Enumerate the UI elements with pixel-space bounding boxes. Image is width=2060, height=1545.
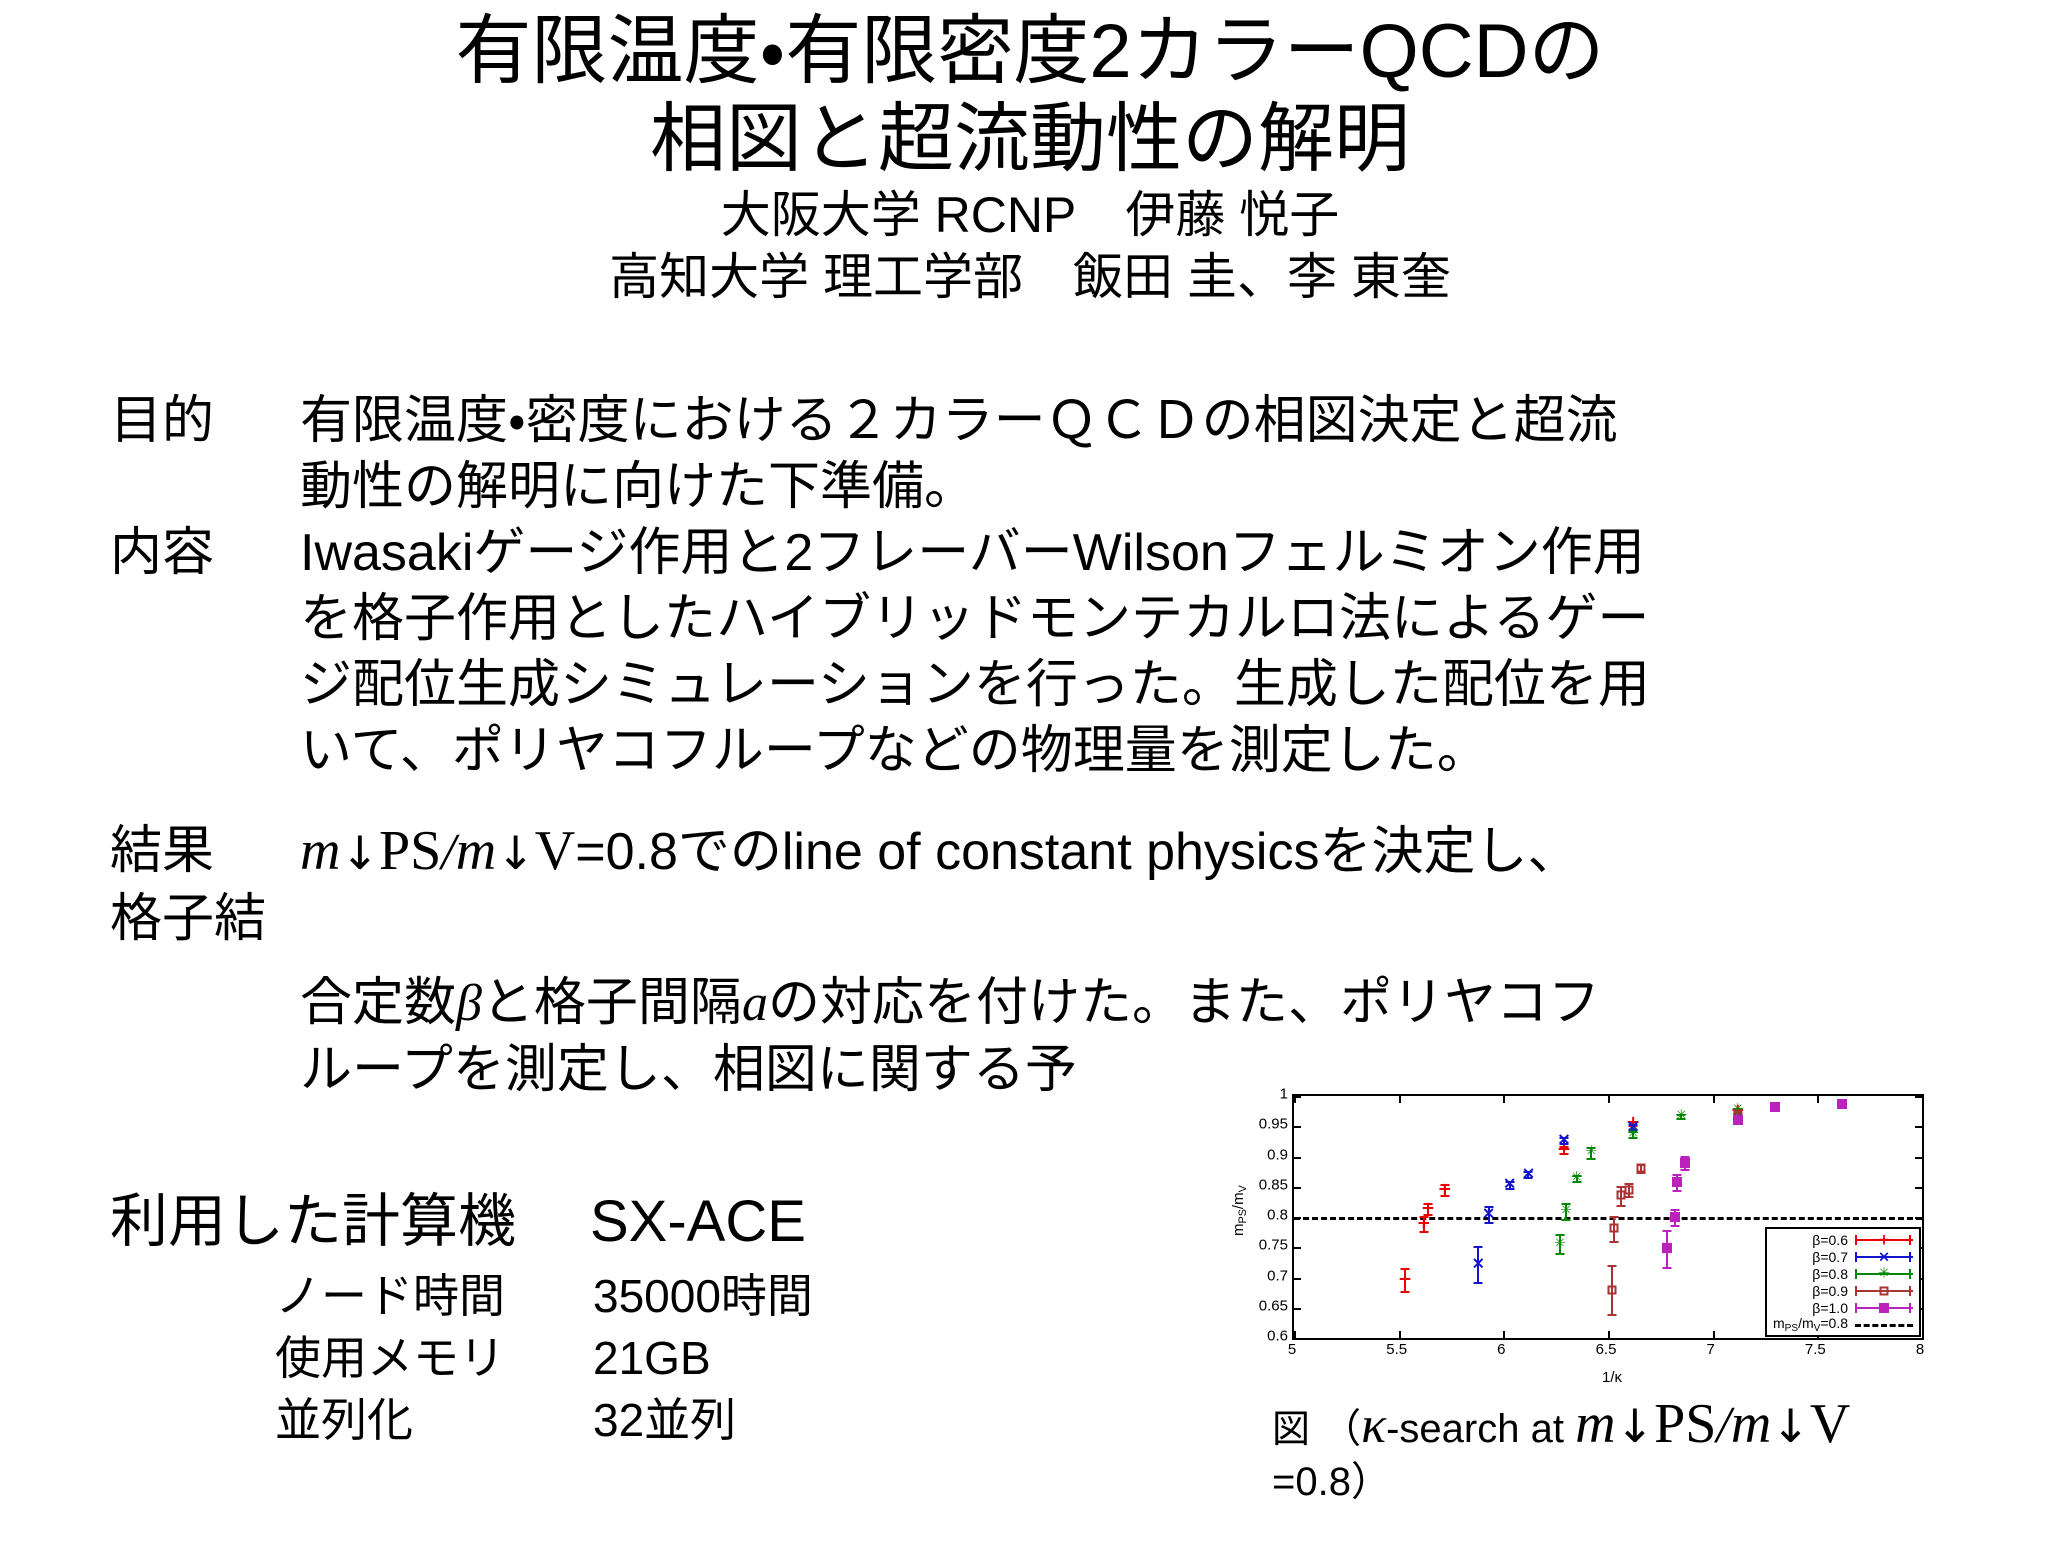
section-results-line-3-a: 合定数 xyxy=(300,974,456,1032)
chart-error-bar-cap xyxy=(1474,1246,1483,1248)
chart-y-tick-label: 0.9 xyxy=(1267,1147,1288,1162)
chart-legend-item: β=0.9 xyxy=(1773,1282,1915,1299)
chart-x-tick-mark xyxy=(1713,1096,1715,1103)
chart-marker-square-filled xyxy=(1670,1212,1680,1222)
chart-marker-star: ✳ xyxy=(1675,1107,1687,1124)
presentation-title-line-1: 有限温度・有限密度2カラーQCDの xyxy=(0,8,2060,96)
chart-x-tick-label: 5 xyxy=(1288,1342,1296,1357)
machine-heading-value: SX-ACE xyxy=(590,1185,806,1259)
chart-y-tick-mark xyxy=(1915,1338,1922,1340)
chart-marker-square-open xyxy=(1637,1163,1646,1172)
chart-y-tick-mark xyxy=(1915,1157,1922,1159)
y-axis-den-sub: V xyxy=(1237,1185,1249,1192)
chart-marker-cross: × xyxy=(1502,1176,1516,1193)
section-contents-line-1: Iwasakiゲージ作用と2フレーバーWilsonフェルミオン作用 xyxy=(300,520,1960,586)
chart-marker-cross: × xyxy=(1521,1166,1535,1183)
chart-legend-item: β=0.8✳ xyxy=(1773,1265,1915,1282)
section-purpose-line-1: 有限温度・密度における２カラーＱＣＤの相図決定と超流 xyxy=(300,388,1960,454)
figure-caption-tail: =0.8） xyxy=(1272,1456,1942,1508)
chart-x-tick-mark xyxy=(1294,1331,1296,1338)
math-down-arrow-1: ↓ xyxy=(340,826,379,880)
figure-caption-m-2: m xyxy=(1731,1393,1771,1455)
machine-row-node-hours-label: ノード時間 xyxy=(275,1265,593,1327)
chart-marker-star: ✳ xyxy=(1627,1126,1639,1143)
chart-x-tick-mark xyxy=(1399,1096,1401,1103)
chart-marker-plus: + xyxy=(1421,1200,1435,1217)
machine-row-memory-value: 21GB xyxy=(593,1327,711,1389)
chart-y-tick-mark xyxy=(1294,1278,1301,1280)
figure-caption-v: V xyxy=(1810,1393,1850,1455)
figure-caption-open-paren: （ xyxy=(1321,1407,1361,1451)
math-lattice-spacing-a: a xyxy=(742,975,768,1032)
chart-x-tick-label: 7.5 xyxy=(1805,1342,1826,1357)
section-results-line-3-b: と格子間隔 xyxy=(482,974,742,1032)
chart-error-bar-cap xyxy=(1608,1314,1617,1316)
section-results: 結果 m↓PS/m↓V=0.8でのline of constant physic… xyxy=(110,818,1960,886)
machine-heading-label: 利用した計算機 xyxy=(110,1185,590,1259)
section-contents-line-2: を格子作用としたハイブリッドモンテカルロ法によるゲー xyxy=(300,586,1960,652)
machine-detail-rows: ノード時間 35000時間 使用メモリ 21GB 並列化 32並列 xyxy=(275,1265,1160,1451)
chart-marker-cross: × xyxy=(1471,1256,1485,1273)
chart-marker-square-filled xyxy=(1733,1115,1743,1125)
machine-row-parallel-value: 32並列 xyxy=(593,1389,736,1451)
chart-x-tick-label: 6.5 xyxy=(1596,1342,1617,1357)
chart-x-tick-mark xyxy=(1608,1096,1610,1103)
chart-error-bar-cap xyxy=(1681,1169,1690,1171)
section-contents: 内容 Iwasakiゲージ作用と2フレーバーWilsonフェルミオン作用 を格子… xyxy=(110,520,1960,784)
math-subscript-ps-1: PS xyxy=(379,820,441,882)
math-m-2: m xyxy=(456,820,496,882)
chart-x-tick-mark xyxy=(1713,1331,1715,1338)
machine-row-parallel-label: 並列化 xyxy=(275,1389,593,1451)
math-down-arrow-2: ↓ xyxy=(496,826,535,880)
chart-reference-line xyxy=(1294,1217,1922,1220)
figure-caption-kappa: κ xyxy=(1361,1397,1386,1454)
chart-legend-reference-label: mPS/mV=0.8 xyxy=(1773,1315,1848,1334)
affiliation-line-2: 高知大学 理工学部 飯田 圭、李 東奎 xyxy=(0,246,2060,308)
section-purpose-body: 有限温度・密度における２カラーＱＣＤの相図決定と超流 動性の解明に向けた下準備。 xyxy=(300,388,1960,520)
chart-error-bar-cap xyxy=(1673,1190,1682,1192)
presentation-title-line-2: 相図と超流動性の解明 xyxy=(0,96,2060,184)
chart-error-bar-cap xyxy=(1400,1291,1409,1293)
machine-row-node-hours-value: 35000時間 xyxy=(593,1265,813,1327)
chart-error-bar-cap xyxy=(1610,1241,1619,1243)
section-contents-label: 内容 xyxy=(110,520,300,586)
chart-legend-sample xyxy=(1853,1301,1915,1315)
section-results-line-2: 格子結 xyxy=(110,886,1960,952)
chart-x-tick-mark xyxy=(1817,1096,1819,1103)
y-axis-num-sub: PS xyxy=(1237,1209,1249,1223)
chart-legend-item: β=0.6+ xyxy=(1773,1231,1915,1248)
section-purpose-label: 目的 xyxy=(110,388,300,454)
chart-marker-square-filled xyxy=(1662,1243,1672,1253)
chart-x-tick-mark xyxy=(1399,1331,1401,1338)
chart-marker-square-filled xyxy=(1770,1102,1780,1112)
chart-legend-reference-sample xyxy=(1853,1318,1915,1332)
title-block: 有限温度・有限密度2カラーQCDの 相図と超流動性の解明 大阪大学 RCNP 伊… xyxy=(0,8,2060,308)
chart-marker-star: ✳ xyxy=(1560,1202,1572,1219)
section-results-label: 結果 xyxy=(110,818,300,884)
chart-x-tick-mark xyxy=(1922,1331,1924,1338)
chart-error-bar-cap xyxy=(1662,1230,1671,1232)
figure-caption-arrow-2: ↓ xyxy=(1771,1399,1810,1453)
chart-marker-cross: × xyxy=(1482,1205,1496,1222)
chart-legend-label: β=1.0 xyxy=(1812,1300,1848,1316)
chart-y-tick-mark xyxy=(1294,1187,1301,1189)
chart-legend-sample xyxy=(1853,1284,1915,1298)
chart-marker-square-filled xyxy=(1837,1099,1847,1109)
section-contents-line-4: いて、ポリヤコフループなどの物理量を測定した。 xyxy=(300,718,1960,784)
chart-legend-label: β=0.6 xyxy=(1812,1232,1848,1248)
chart-y-tick-mark xyxy=(1294,1157,1301,1159)
chart-y-tick-label: 1 xyxy=(1280,1087,1288,1102)
chart-y-tick-label: 0.75 xyxy=(1259,1238,1288,1253)
math-slash-1: / xyxy=(441,824,455,881)
section-purpose: 目的 有限温度・密度における２カラーＱＣＤの相図決定と超流 動性の解明に向けた下… xyxy=(110,388,1960,520)
section-results-body-line-1: m↓PS/m↓V=0.8でのline of constant physicsを決… xyxy=(300,818,1960,886)
chart-x-tick-mark xyxy=(1503,1096,1505,1103)
chart-marker-star: ✳ xyxy=(1554,1235,1566,1252)
section-results-line-3: 合定数βと格子間隔aの対応を付けた。また、ポリヤコフ xyxy=(300,970,1960,1037)
chart-error-bar-cap xyxy=(1662,1267,1671,1269)
chart-y-tick-mark xyxy=(1294,1126,1301,1128)
section-results-line-3-c: の対応を付けた。また、ポリヤコフ xyxy=(768,974,1600,1032)
chart-error-bar-cap xyxy=(1610,1216,1619,1218)
math-subscript-v-1: V xyxy=(535,820,575,882)
figure-block: mPS/mV 1/κ +++++++×××××××✳✳✳✳✳✳✳β=0.6+β=… xyxy=(1232,1088,1942,1508)
chart-marker-square-open xyxy=(1610,1224,1619,1233)
chart-legend-label: β=0.9 xyxy=(1812,1283,1848,1299)
section-purpose-line-2: 動性の解明に向けた下準備。 xyxy=(300,454,1960,520)
chart-x-tick-label: 5.5 xyxy=(1386,1342,1407,1357)
chart-error-bar-cap xyxy=(1624,1196,1633,1198)
chart-legend-label: β=0.8 xyxy=(1812,1266,1848,1282)
chart-y-tick-label: 0.7 xyxy=(1267,1268,1288,1283)
chart-y-tick-mark xyxy=(1915,1126,1922,1128)
chart-x-tick-label: 7 xyxy=(1706,1342,1714,1357)
chart-x-tick-label: 6 xyxy=(1497,1342,1505,1357)
chart-marker-square-filled xyxy=(1672,1177,1682,1187)
chart-x-axis-label: 1/κ xyxy=(1602,1369,1622,1386)
figure-caption-ps: PS xyxy=(1654,1393,1716,1455)
chart-legend-label: β=0.7 xyxy=(1812,1249,1848,1265)
machine-row-parallel: 並列化 32並列 xyxy=(275,1389,1160,1451)
chart-marker-plus: + xyxy=(1438,1181,1452,1198)
chart-error-bar-cap xyxy=(1616,1205,1625,1207)
chart-marker-square-filled xyxy=(1680,1158,1690,1168)
machine-info-block: 利用した計算機 SX-ACE ノード時間 35000時間 使用メモリ 21GB … xyxy=(110,1185,1160,1451)
chart-marker-star: ✳ xyxy=(1571,1169,1583,1186)
machine-row-memory-label: 使用メモリ xyxy=(275,1327,593,1389)
machine-row-memory: 使用メモリ 21GB xyxy=(275,1327,1160,1389)
chart-y-tick-label: 0.95 xyxy=(1259,1117,1288,1132)
section-contents-body: Iwasakiゲージ作用と2フレーバーWilsonフェルミオン作用 を格子作用と… xyxy=(300,520,1960,784)
chart-error-bar-cap xyxy=(1670,1209,1679,1211)
chart-error-bar-cap xyxy=(1670,1225,1679,1227)
chart-y-tick-mark xyxy=(1294,1338,1301,1340)
chart-plot-area: +++++++×××××××✳✳✳✳✳✳✳β=0.6+β=0.7×β=0.8✳β… xyxy=(1292,1094,1924,1340)
chart-x-tick-label: 8 xyxy=(1916,1342,1924,1357)
figure-caption-arrow-1: ↓ xyxy=(1616,1399,1655,1453)
chart-legend-item: β=1.0 xyxy=(1773,1299,1915,1316)
chart-error-bar-cap xyxy=(1474,1282,1483,1284)
section-results-line-1-tail: =0.8でのline of constant physicsを決定し、 xyxy=(575,823,1579,881)
chart-error-bar-cap xyxy=(1637,1172,1646,1174)
chart-y-axis-label: mPS/mV xyxy=(1230,1185,1249,1236)
figure-caption-m-1: m xyxy=(1575,1393,1615,1455)
chart-y-tick-label: 0.6 xyxy=(1267,1329,1288,1344)
chart-y-tick-mark xyxy=(1294,1247,1301,1249)
chart-legend-sample: + xyxy=(1853,1233,1915,1247)
chart-marker-square-open xyxy=(1624,1185,1633,1194)
affiliation-line-1: 大阪大学 RCNP 伊藤 悦子 xyxy=(0,184,2060,246)
chart-error-bar-cap xyxy=(1608,1265,1617,1267)
section-contents-line-3: ジ配位生成シミュレーションを行った。生成した配位を用 xyxy=(300,652,1960,718)
chart-legend-item: β=0.7× xyxy=(1773,1248,1915,1265)
chart-x-tick-mark xyxy=(1503,1331,1505,1338)
figure-caption-text: -search at xyxy=(1386,1407,1575,1451)
chart-x-tick-mark xyxy=(1922,1096,1924,1103)
chart-x-tick-mark xyxy=(1294,1096,1296,1103)
chart-marker-cross: × xyxy=(1557,1131,1571,1148)
machine-heading-row: 利用した計算機 SX-ACE xyxy=(110,1185,1160,1259)
chart-marker-square-open xyxy=(1608,1285,1617,1294)
math-beta: β xyxy=(456,975,482,1032)
y-axis-den-base: m xyxy=(1230,1192,1247,1205)
kappa-search-plot: mPS/mV 1/κ +++++++×××××××✳✳✳✳✳✳✳β=0.6+β=… xyxy=(1232,1088,1932,1388)
chart-y-tick-label: 0.85 xyxy=(1259,1177,1288,1192)
figure-caption-box-label: 図 xyxy=(1272,1409,1310,1451)
chart-legend-sample: × xyxy=(1853,1250,1915,1264)
chart-y-tick-label: 0.65 xyxy=(1259,1298,1288,1313)
chart-legend-sample: ✳ xyxy=(1853,1267,1915,1281)
figure-caption-slash: / xyxy=(1716,1397,1730,1454)
chart-error-bar-cap xyxy=(1673,1174,1682,1176)
chart-x-tick-mark xyxy=(1608,1331,1610,1338)
chart-marker-plus: + xyxy=(1398,1271,1412,1288)
body-content: 目的 有限温度・密度における２カラーＱＣＤの相図決定と超流 動性の解明に向けた下… xyxy=(110,388,1960,1103)
chart-y-tick-mark xyxy=(1915,1187,1922,1189)
figure-caption: 図 （κ-search at m↓PS/m↓V =0.8） xyxy=(1272,1398,1942,1508)
chart-y-tick-mark xyxy=(1915,1096,1922,1098)
chart-y-tick-label: 0.8 xyxy=(1267,1208,1288,1223)
machine-row-node-hours: ノード時間 35000時間 xyxy=(275,1265,1160,1327)
chart-marker-star: ✳ xyxy=(1585,1144,1597,1161)
chart-y-tick-mark xyxy=(1294,1308,1301,1310)
chart-legend-item-reference: mPS/mV=0.8 xyxy=(1773,1316,1915,1333)
math-m-1: m xyxy=(300,820,340,882)
chart-legend: β=0.6+β=0.7×β=0.8✳β=0.9β=1.0mPS/mV=0.8 xyxy=(1765,1227,1921,1337)
chart-error-bar-cap xyxy=(1555,1253,1564,1255)
y-axis-num-base: m xyxy=(1230,1224,1247,1237)
